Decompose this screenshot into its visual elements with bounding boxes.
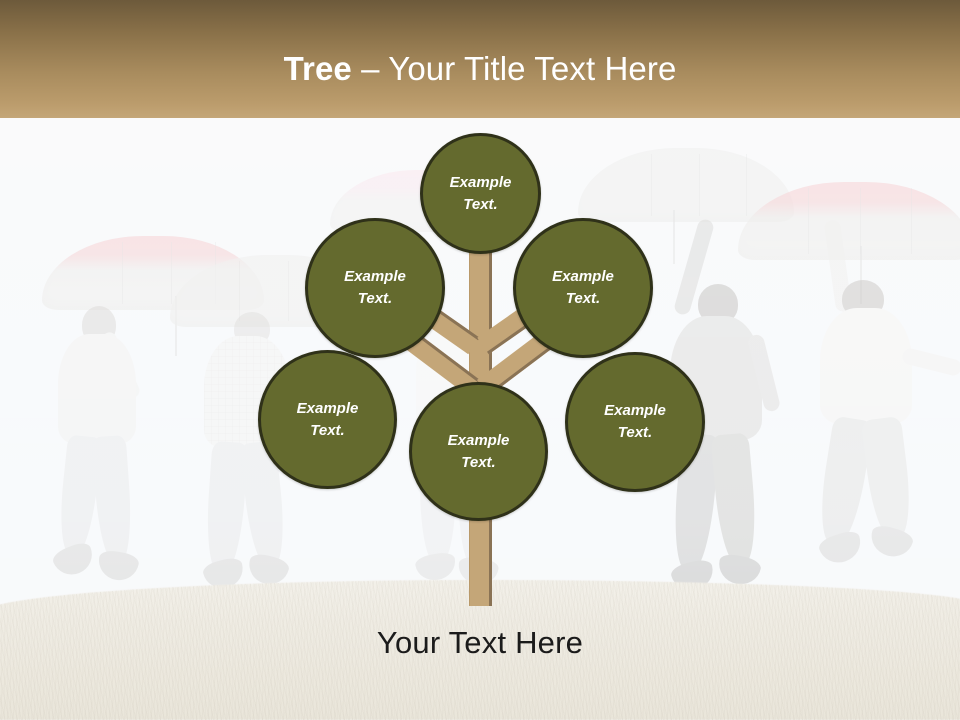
tree-node-lower-center[interactable]: Example Text. xyxy=(409,382,548,521)
tree-diagram: Example Text. Example Text. Example Text… xyxy=(0,0,960,720)
node-label-line2: Text. xyxy=(566,288,600,310)
node-label-line1: Example xyxy=(604,400,666,422)
node-label-line2: Text. xyxy=(463,194,497,216)
node-label-line2: Text. xyxy=(618,422,652,444)
node-label-line1: Example xyxy=(448,430,510,452)
tree-node-upper-right[interactable]: Example Text. xyxy=(513,218,653,358)
bottom-caption: Your Text Here xyxy=(0,625,960,661)
node-label-line2: Text. xyxy=(358,288,392,310)
node-label-line1: Example xyxy=(552,266,614,288)
node-label-line1: Example xyxy=(344,266,406,288)
slide: Tree – Your Title Text Here Example Text… xyxy=(0,0,960,720)
tree-node-lower-right[interactable]: Example Text. xyxy=(565,352,705,492)
node-label-line1: Example xyxy=(450,172,512,194)
tree-node-upper-left[interactable]: Example Text. xyxy=(305,218,445,358)
node-label-line2: Text. xyxy=(461,452,495,474)
node-label-line1: Example xyxy=(297,398,359,420)
tree-node-top[interactable]: Example Text. xyxy=(420,133,541,254)
tree-node-lower-left[interactable]: Example Text. xyxy=(258,350,397,489)
node-label-line2: Text. xyxy=(310,420,344,442)
